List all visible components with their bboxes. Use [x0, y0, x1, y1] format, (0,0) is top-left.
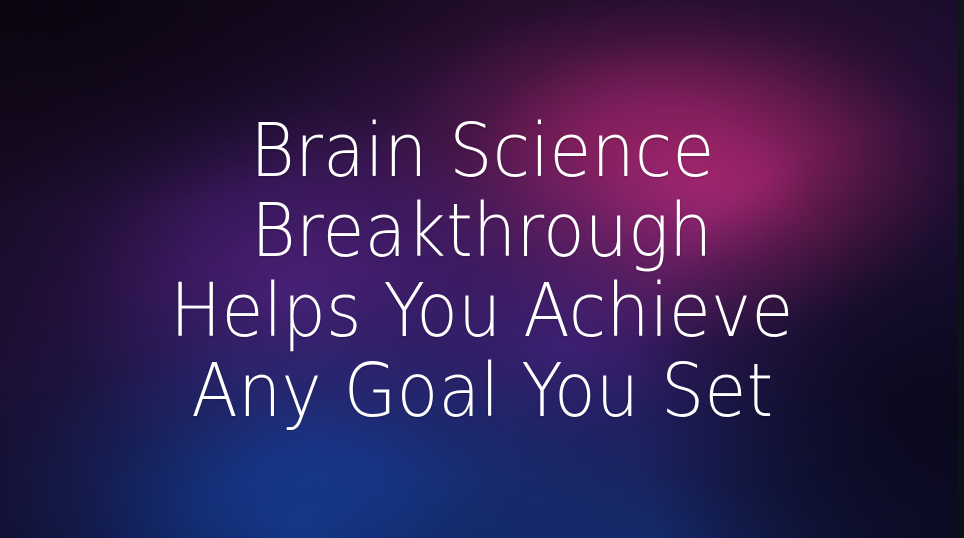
headline-line-4: Any Goal You Set	[191, 352, 773, 432]
slide-canvas: Brain Science Breakthrough Helps You Ach…	[0, 0, 964, 538]
headline-line-2: Breakthrough	[251, 192, 712, 272]
headline-block: Brain Science Breakthrough Helps You Ach…	[0, 0, 964, 538]
headline-line-1: Brain Science	[250, 112, 714, 192]
headline-line-3: Helps You Achieve	[170, 272, 793, 352]
